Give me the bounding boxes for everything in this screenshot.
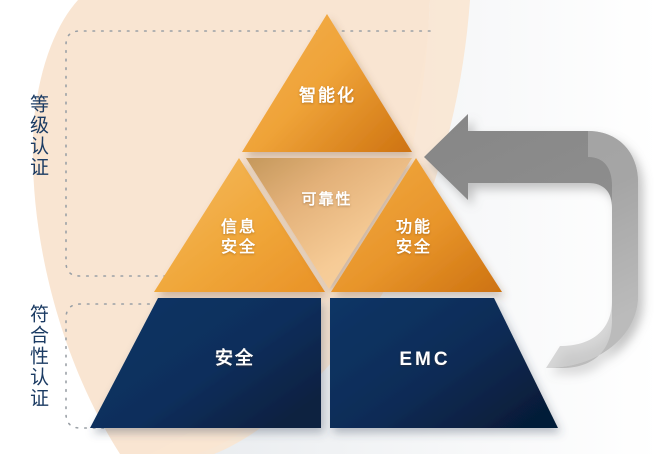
side-label-compliance-certification: 符合性认证 xyxy=(27,304,47,409)
diagram-canvas: 等级认证 符合性认证 智能化 信息 安全 可靠性 功能 安全 安全 EMC xyxy=(0,0,660,454)
side-label-grade-certification: 等级认证 xyxy=(27,94,47,178)
diagram-svg xyxy=(0,0,660,454)
